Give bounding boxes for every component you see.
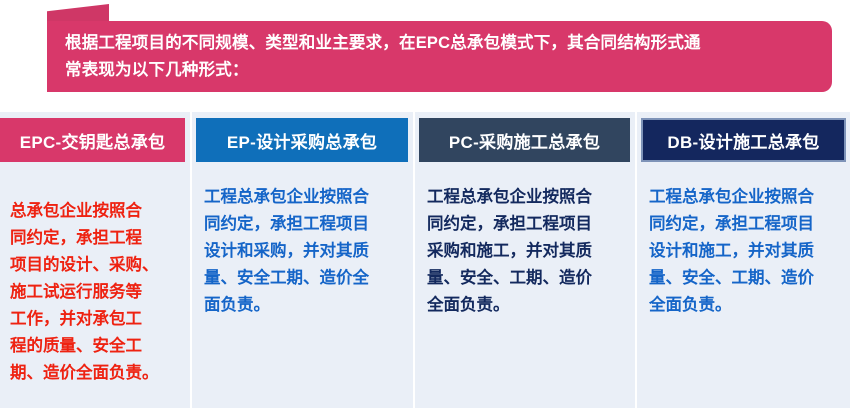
header-banner: 根据工程项目的不同规模、类型和业主要求，在EPC总承包模式下，其合同结构形式通 …: [0, 0, 850, 100]
column-epc: EPC-交钥匙总承包 总承包企业按照合 同约定，承担工程 项目的设计、采购、 施…: [0, 112, 190, 408]
column-ep-description: 工程总承包企业按照合 同约定，承担工程项目 设计和采购，并对其质 量、安全工期、…: [204, 184, 403, 319]
column-pc-header[interactable]: PC-采购施工总承包: [419, 118, 630, 162]
column-db-header[interactable]: DB-设计施工总承包: [641, 118, 846, 162]
column-db: DB-设计施工总承包 工程总承包企业按照合 同约定，承担工程项目 设计和施工，并…: [635, 112, 850, 408]
column-pc-description: 工程总承包企业按照合 同约定，承担工程项目 采购和施工，并对其质 量、安全、工期…: [427, 184, 625, 319]
contract-structure-columns: EPC-交钥匙总承包 总承包企业按照合 同约定，承担工程 项目的设计、采购、 施…: [0, 112, 850, 408]
column-ep: EP-设计采购总承包 工程总承包企业按照合 同约定，承担工程项目 设计和采购，并…: [190, 112, 413, 408]
column-epc-description: 总承包企业按照合 同约定，承担工程 项目的设计、采购、 施工试运行服务等 工作，…: [10, 198, 178, 387]
banner-title-text: 根据工程项目的不同规模、类型和业主要求，在EPC总承包模式下，其合同结构形式通 …: [65, 30, 816, 84]
column-epc-header[interactable]: EPC-交钥匙总承包: [0, 118, 185, 162]
banner-body: 根据工程项目的不同规模、类型和业主要求，在EPC总承包模式下，其合同结构形式通 …: [47, 21, 832, 92]
column-ep-header[interactable]: EP-设计采购总承包: [196, 118, 408, 162]
column-db-description: 工程总承包企业按照合 同约定，承担工程项目 设计和施工，并对其质 量、安全、工期…: [649, 184, 840, 319]
column-pc: PC-采购施工总承包 工程总承包企业按照合 同约定，承担工程项目 采购和施工，并…: [413, 112, 635, 408]
